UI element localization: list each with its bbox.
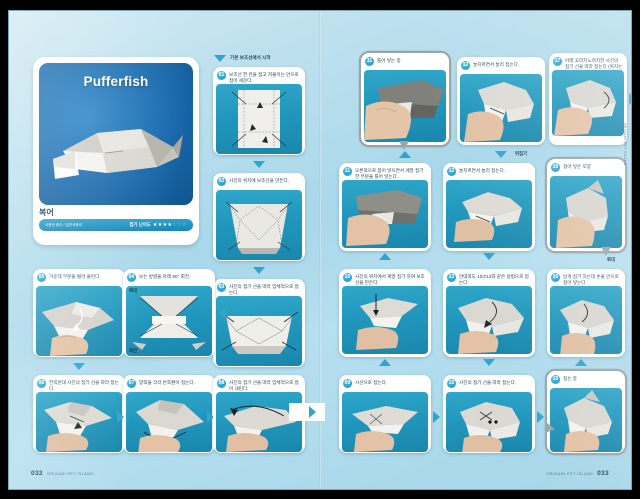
step-badge: 16: [551, 163, 560, 172]
step-badge: 13: [447, 273, 456, 282]
step-panel-01[interactable]: 01 보조선 한 칸을 접고 저물이는 안으로 접어 세운다.: [213, 67, 305, 155]
flow-arrow-up: [399, 151, 411, 158]
flow-arrow-right: [537, 411, 544, 423]
step-badge: 16: [551, 273, 560, 282]
step-caption: 반대쪽도 10↺12와 같은 방법으로 접는다.: [459, 273, 531, 285]
step-caption: 보는 방향을 아래 90° 회전.: [139, 273, 190, 280]
step-caption: 사진의 접기 선을 따라 입체적으로 접어 내린다.: [229, 379, 301, 391]
step-caption: 보조선 한 칸을 접고 저물이는 안으로 접어 세운다.: [229, 71, 301, 83]
step-panel-14[interactable]: 13 반대쪽도 10↺12와 같은 방법으로 접는다.: [443, 269, 535, 357]
step-badge: 10: [343, 273, 352, 282]
step-panel-02[interactable]: 02 사진의 위치에 보조선을 만든다.: [213, 173, 305, 261]
step-badge: 01: [217, 71, 226, 80]
book-spread: Pufferfish 복어 사용한 종이 / 일반색종이 접기 난이도 ★★★★…: [9, 11, 631, 489]
pufferfish-origami-illustration: [45, 107, 187, 193]
step-panel-06[interactable]: 06 한쪽반대 사진의 접기 선을 따라 접는다.: [33, 375, 125, 453]
step-photo: [216, 392, 302, 452]
paper-info: 사용한 종이 / 일반색종이: [45, 223, 82, 228]
start-label: 기본 보조선에서 시작: [230, 55, 271, 61]
step-photo: [550, 286, 622, 354]
step-photo: [36, 286, 122, 356]
page-number-left: 032: [31, 470, 43, 477]
step-caption: 사진의 위치에서 게말 접기 하여 보조선을 만든다.: [355, 273, 427, 285]
step-badge: 17: [553, 57, 562, 66]
step-caption: 접는 중: [563, 375, 577, 382]
step-panel-11[interactable]: 11 오른쪽으로 접어 넣으면서 게말 접기 한 부분을 틀어 넣는다.: [339, 163, 431, 251]
flow-arrow-down: [214, 55, 226, 62]
step-photo: [216, 84, 302, 154]
turn-over-mark: 뒤집기: [515, 151, 527, 157]
step-caption: 아래 꼬리지노려지한 사진의 접기 선을 따라 접는다 (위치는 12를 참고)…: [565, 57, 623, 69]
callout-tail: [601, 247, 611, 256]
page-edge-text: ORIGAMI PET ISLAND: [623, 123, 627, 166]
step-photo: [446, 392, 532, 452]
flow-arrow-right: [309, 406, 316, 418]
step-panel-12[interactable]: 12 눌지르면서 눌러 접는다.: [457, 57, 545, 145]
step-caption: 한쪽반대 사진의 접기 선을 따라 접는다.: [49, 379, 121, 391]
step-panel-16-2[interactable]: 16 접어 넣은 모양: [547, 159, 625, 251]
step-caption: 오른쪽으로 접어 넣으면서 게말 접기 한 부분을 틀어 넣는다.: [355, 167, 427, 179]
flow-arrow-down: [253, 267, 265, 274]
step-caption: 날개 접기 하는데 손을 안으로 접어 넣는다.: [563, 273, 621, 285]
step-photo: [550, 176, 622, 248]
difficulty-label: 접기 난이도: [129, 222, 150, 228]
flow-arrow-right: [433, 411, 440, 423]
step-photo: [36, 392, 122, 452]
step-badge: 03: [217, 283, 226, 292]
page-number-right: 033: [597, 470, 609, 477]
step-badge: 11: [365, 57, 374, 66]
model-name-korean: 복어: [39, 207, 54, 218]
step-photo: 확대 회전: [126, 286, 212, 356]
flow-arrow-right: [629, 93, 631, 105]
step-photo: [342, 180, 428, 248]
step-caption: 사진의 위치에 보조선을 만든다.: [229, 177, 289, 184]
step-caption: 접어 넣은 모양: [563, 163, 591, 170]
step-caption: 눌지르면서 눌러 접는다.: [473, 61, 519, 68]
folio-left: 032 ORIGAMI PET ISLAND: [31, 470, 93, 477]
step-photo: [550, 388, 622, 452]
step-badge: 04: [127, 273, 136, 282]
step-badge: 05: [37, 273, 46, 282]
book-title-right: ORIGAMI PET ISLAND: [547, 472, 593, 476]
step-panel-13[interactable]: 12 눌지르면서 눌러 접는다.: [443, 163, 535, 251]
step-caption: 사진의 접기 선을 따라 접는다.: [459, 379, 516, 386]
book-title-left: ORIGAMI PET ISLAND: [47, 472, 93, 476]
step-badge: 07: [127, 379, 136, 388]
step-photo: [126, 392, 212, 452]
step-photo: [342, 392, 428, 452]
step-photo: [342, 286, 428, 354]
step-caption: 가운데 부분을 벌려 올린다.: [49, 273, 101, 280]
step-badge: 15: [447, 379, 456, 388]
step-caption: 눌지르면서 눌러 접는다.: [459, 167, 505, 174]
step-panel-05[interactable]: 05 가운데 부분을 벌려 올린다.: [33, 269, 125, 357]
flow-arrow-right: [117, 411, 124, 423]
step-caption: 틀어 넣는 중: [377, 57, 401, 64]
step-panel-04[interactable]: 04 보는 방향을 아래 90° 회전. 확대 회전: [123, 269, 215, 357]
step-panel-17[interactable]: 17 아래 꼬리지노려지한 사진의 접기 선을 따라 접는다 (위치는 12를 …: [549, 53, 627, 145]
step-panel-15[interactable]: 15 사진의 접기 선을 따라 접는다.: [443, 375, 535, 453]
rotate-mark: 회전: [129, 348, 137, 354]
expand-mark: 확대: [607, 257, 615, 263]
flow-arrow-up: [379, 359, 391, 366]
page-title: Pufferfish: [39, 74, 193, 89]
flow-arrow-up: [575, 359, 587, 366]
difficulty-bar: 사용한 종이 / 일반색종이 접기 난이도 ★★★★☆☆☆: [39, 219, 193, 231]
difficulty-stars: ★★★★☆☆☆: [153, 222, 187, 228]
step-photo: [446, 286, 532, 354]
model-photo: Pufferfish: [39, 63, 193, 205]
folio-right: ORIGAMI PET ISLAND 033: [547, 470, 609, 477]
step-photo: [460, 74, 542, 142]
step-caption: 양쪽을 각각 안쪽편이 접는다.: [139, 379, 195, 386]
step-badge: 08: [217, 379, 226, 388]
callout-tail: [399, 141, 409, 150]
flow-arrow-down: [73, 363, 85, 370]
expand-mark: 확대: [129, 288, 137, 294]
flow-arrow-down: [253, 161, 265, 168]
step-panel-15-2[interactable]: 15 접는 중: [547, 371, 625, 453]
step-badge: 12: [447, 167, 456, 176]
step-panel-03[interactable]: 03 사진의 접기 선을 따라 입체적으로 접는다.: [213, 279, 305, 367]
step-badge: 11: [343, 167, 352, 176]
flow-arrow-up: [379, 253, 391, 260]
step-badge: 12: [461, 61, 470, 70]
step-panel-07[interactable]: 07 양쪽을 각각 안쪽편이 접는다.: [123, 375, 215, 453]
step-photo: [552, 70, 624, 136]
step-photo: [364, 70, 446, 142]
step-panel-10[interactable]: 10 사진의 위치에서 게말 접기 하여 보조선을 만든다.: [339, 269, 431, 357]
step-badge: 09: [343, 379, 352, 388]
flow-arrow-down: [483, 359, 495, 366]
step-caption: 사진의 접기 선을 따라 입체적으로 접는다.: [229, 283, 301, 295]
flow-arrow-down: [483, 253, 495, 260]
step-panel-09[interactable]: 09 사선으로 접는다.: [339, 375, 431, 453]
step-badge: 02: [217, 177, 226, 186]
step-panel-11-2[interactable]: 11 틀어 넣는 중: [361, 53, 449, 145]
flow-band: [289, 403, 325, 421]
step-badge: 06: [37, 379, 46, 388]
flow-arrow-left: [219, 307, 226, 319]
model-title-card: Pufferfish 복어 사용한 종이 / 일반색종이 접기 난이도 ★★★★…: [33, 57, 199, 245]
step-photo: [446, 180, 532, 248]
step-caption: 사선으로 접는다.: [355, 379, 387, 386]
step-photo: [216, 190, 302, 260]
step-photo: [216, 296, 302, 366]
step-panel-16[interactable]: 16 날개 접기 하는데 손을 안으로 접어 넣는다.: [547, 269, 625, 357]
step-badge: 15: [551, 375, 560, 384]
flow-arrow-down: [495, 151, 507, 158]
